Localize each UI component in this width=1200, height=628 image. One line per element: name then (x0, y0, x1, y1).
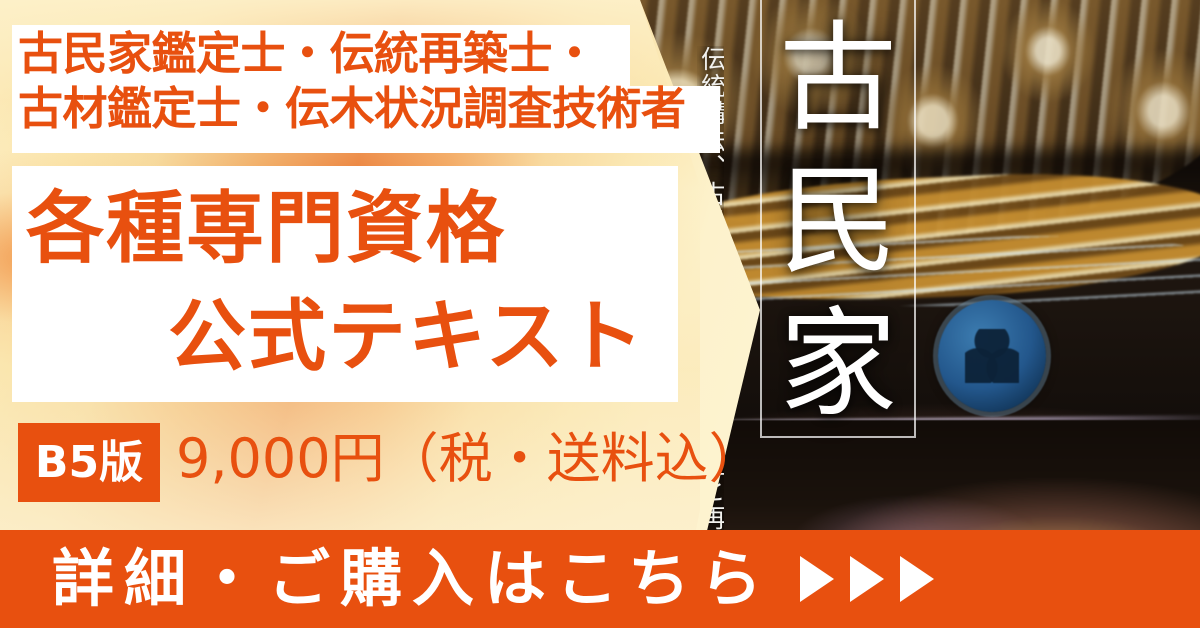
main-heading-text: 各種専門資格 公式テキスト (12, 176, 678, 391)
book-title-char-1: 古 (779, 21, 897, 139)
cta-label: 詳細・ご購入はこちら (52, 548, 772, 610)
family-crest-icon (938, 300, 1046, 412)
format-badge-label: B5版 (35, 441, 143, 485)
main-heading-line-2: 公式テキスト (12, 284, 678, 392)
headline-line-1: 古民家鑑定士・伝統再築士・ (18, 27, 724, 82)
cta-bar[interactable]: 詳細・ご購入はこちら (0, 530, 1200, 628)
promo-banner: 伝統構法、古民家活用のための調査と再生の 古 民 家 古民家鑑定士・伝統再築士・… (0, 0, 1200, 628)
format-badge: B5版 (18, 423, 160, 502)
triangle-right-icon (800, 556, 834, 602)
headline-line-2: 古材鑑定士・伝木状況調査技術者 (18, 82, 724, 137)
book-title-char-3: 家 (779, 307, 897, 425)
main-heading-line-1: 各種専門資格 (12, 176, 678, 284)
headline-text: 古民家鑑定士・伝統再築士・ 古材鑑定士・伝木状況調査技術者 (18, 27, 724, 137)
cta-arrow-group (800, 556, 934, 602)
price-label: 9,000円（税・送料込） (176, 432, 763, 486)
triangle-right-icon (850, 556, 884, 602)
book-title-vertical: 古 民 家 (762, 8, 914, 438)
book-title-char-2: 民 (779, 164, 897, 282)
triangle-right-icon (900, 556, 934, 602)
